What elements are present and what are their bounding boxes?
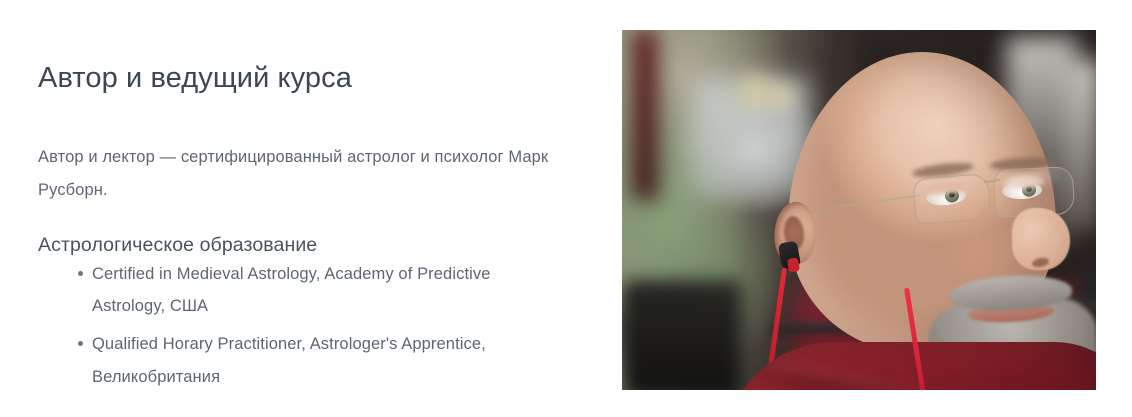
page-title: Автор и ведущий курса	[38, 60, 352, 96]
text-column: Автор и ведущий курса Автор и лектор — с…	[38, 0, 598, 417]
photo-content	[622, 30, 1096, 390]
list-item-label: Certified in Medieval Astrology, Academy…	[92, 265, 491, 315]
portrait-head	[754, 52, 1084, 382]
bullet-icon	[78, 271, 83, 276]
credentials-list: Certified in Medieval Astrology, Academy…	[38, 258, 538, 399]
intro-paragraph: Автор и лектор — сертифицированный астро…	[38, 141, 578, 209]
earphone-bud-accent	[787, 257, 800, 273]
bullet-icon	[78, 341, 83, 346]
glasses-lens-left	[912, 173, 992, 225]
list-item-label: Qualified Horary Practitioner, Astrologe…	[92, 335, 486, 385]
author-section: Автор и ведущий курса Автор и лектор — с…	[0, 0, 1132, 417]
author-photo	[622, 30, 1096, 390]
background-pillar-red	[632, 30, 658, 200]
list-item: Qualified Horary Practitioner, Astrologe…	[38, 328, 538, 392]
list-item: Certified in Medieval Astrology, Academy…	[38, 258, 538, 322]
education-subheading: Астрологическое образование	[38, 232, 317, 259]
background-planter	[622, 280, 742, 390]
